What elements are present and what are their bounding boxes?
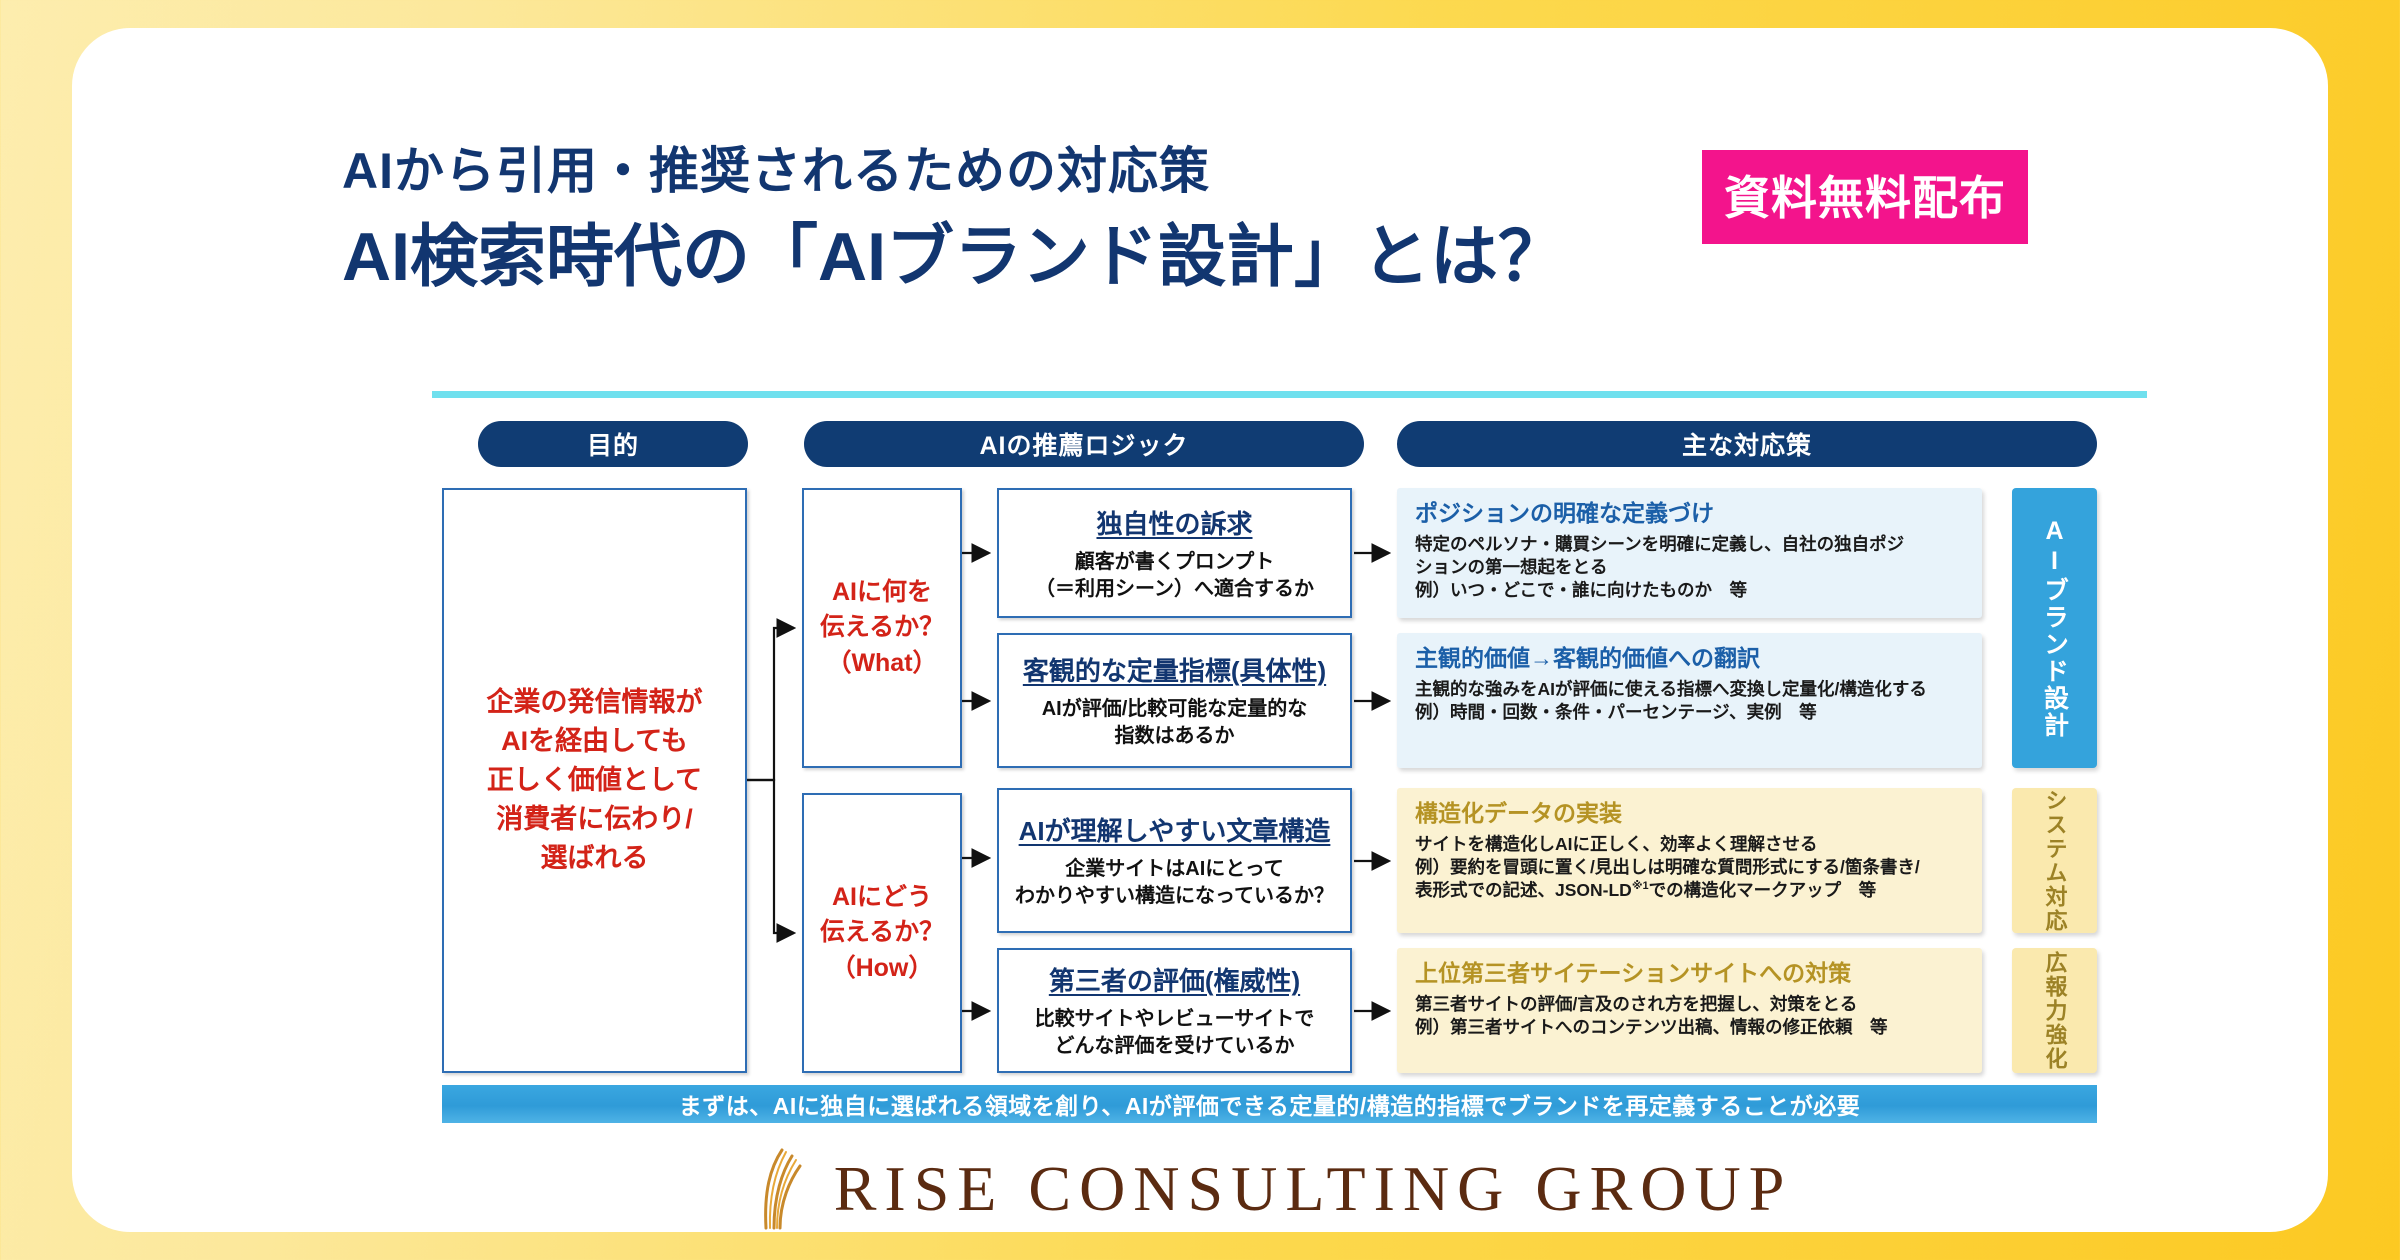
logic-line: 顧客が書くプロンプト [1035, 549, 1314, 576]
question-line: AIに何を [820, 575, 944, 611]
measure-line: 例）第三者サイトへのコンテンツ出稿、情報の修正依頼 等 [1415, 1016, 1966, 1039]
question-box-how: AIにどう 伝えるか？ （How） [802, 793, 962, 1073]
logic-line: 指数はあるか [1042, 723, 1308, 750]
measure-body: 第三者サイトの評価/言及のされ方を把握し、対策をとる 例）第三者サイトへのコンテ… [1415, 993, 1966, 1040]
category-tab-pr: 広報力強化 [2012, 948, 2097, 1073]
logic-line: AIが評価/比較可能な定量的な [1042, 696, 1308, 723]
question-how-text: AIにどう 伝えるか？ （How） [820, 880, 944, 987]
logic-box-title: 第三者の評価(権威性) [1049, 961, 1300, 998]
logic-box-4: 第三者の評価(権威性) 比較サイトやレビューサイトで どんな評価を受けているか [997, 948, 1352, 1073]
measure-line: 例）いつ・どこで・誰に向けたものか 等 [1415, 579, 1966, 602]
measure-line: 主観的な強みをAIが評価に使える指標へ変換し定量化/構造化する [1415, 678, 1966, 701]
measure-line: 第三者サイトの評価/言及のされ方を把握し、対策をとる [1415, 993, 1966, 1016]
logic-box-1: 独自性の訴求 顧客が書くプロンプト （＝利用シーン）へ適合するか [997, 488, 1352, 618]
purpose-line: 消費者に伝わり/ [487, 800, 703, 839]
logic-box-title: 独自性の訴求 [1096, 504, 1252, 541]
measure-line: ションの第一想起をとる [1415, 556, 1966, 579]
measure-title: 構造化データの実装 [1415, 800, 1966, 828]
question-box-what: AIに何を 伝えるか？ （What） [802, 488, 962, 768]
logic-box-2: 客観的な定量指標(具体性) AIが評価/比較可能な定量的な 指数はあるか [997, 633, 1352, 768]
category-tab-system: システム対応 [2012, 788, 2097, 933]
measure-line: 例）要約を冒頭に置く/見出しは明確な質問形式にする/箇条書き/ [1415, 856, 1966, 879]
column-header-purpose: 目的 [478, 421, 748, 467]
question-line: （What） [820, 646, 944, 682]
purpose-line: 企業の発信情報が [487, 683, 703, 722]
column-header-measures: 主な対応策 [1397, 421, 2097, 467]
category-tab-ai-brand: AIブランド設計 [2012, 488, 2097, 768]
question-what-text: AIに何を 伝えるか？ （What） [820, 575, 944, 682]
question-line: 伝えるか？ [820, 915, 944, 951]
question-line: 伝えるか？ [820, 610, 944, 646]
purpose-line: AIを経由しても [487, 722, 703, 761]
logic-line: （＝利用シーン）へ適合するか [1035, 576, 1314, 603]
logic-box-title: AIが理解しやすい文章構造 [1019, 811, 1331, 848]
measure-body: サイトを構造化しAIに正しく、効率よく理解させる 例）要約を冒頭に置く/見出しは… [1415, 833, 1966, 903]
measure-box-1: ポジションの明確な定義づけ 特定のペルソナ・購買シーンを明確に定義し、自社の独自… [1397, 488, 1982, 618]
measure-title: 上位第三者サイテーションサイトへの対策 [1415, 960, 1966, 988]
slide-card: AIから引用・推奨されるための対応策 AI検索時代の「AIブランド設計」とは？ … [72, 28, 2328, 1232]
purpose-line: 選ばれる [487, 839, 703, 878]
logo-wordmark: RISE CONSULTING GROUP [834, 1152, 1793, 1226]
wheat-sheaf-icon [752, 1146, 808, 1232]
column-header-logic: AIの推薦ロジック [804, 421, 1364, 467]
measure-box-3: 構造化データの実装 サイトを構造化しAIに正しく、効率よく理解させる 例）要約を… [1397, 788, 1982, 933]
measure-body: 特定のペルソナ・購買シーンを明確に定義し、自社の独自ポジ ションの第一想起をとる… [1415, 533, 1966, 603]
measure-body: 主観的な強みをAIが評価に使える指標へ変換し定量化/構造化する 例）時間・回数・… [1415, 678, 1966, 725]
logic-box-body: 比較サイトやレビューサイトで どんな評価を受けているか [1035, 1006, 1315, 1059]
logic-box-title: 客観的な定量指標(具体性) [1023, 651, 1326, 688]
logic-line: 比較サイトやレビューサイトで [1035, 1006, 1315, 1033]
purpose-text: 企業の発信情報が AIを経由しても 正しく価値として 消費者に伝わり/ 選ばれる [487, 683, 703, 879]
measure-line: 例）時間・回数・条件・パーセンテージ、実例 等 [1415, 701, 1966, 724]
logic-line: わかりやすい構造になっているか？ [1015, 883, 1334, 910]
purpose-line: 正しく価値として [487, 761, 703, 800]
divider [432, 391, 2147, 398]
question-line: AIにどう [820, 880, 944, 916]
logic-line: 企業サイトはAIにとって [1015, 856, 1334, 883]
logic-box-3: AIが理解しやすい文章構造 企業サイトはAIにとって わかりやすい構造になってい… [997, 788, 1352, 933]
measure-line: 表形式での記述、JSON-LD※1での構造化マークアップ 等 [1415, 879, 1966, 902]
logic-box-body: 顧客が書くプロンプト （＝利用シーン）へ適合するか [1035, 549, 1314, 602]
diagram: 目的 AIの推薦ロジック 主な対応策 企業の発信情報が AIを経由しても 正しく… [432, 413, 2147, 1113]
brand-logo: RISE CONSULTING GROUP [72, 1146, 2400, 1232]
purpose-box: 企業の発信情報が AIを経由しても 正しく価値として 消費者に伝わり/ 選ばれる [442, 488, 747, 1073]
measure-line: サイトを構造化しAIに正しく、効率よく理解させる [1415, 833, 1966, 856]
footer-banner: まずは、AIに独自に選ばれる領域を創り、AIが評価できる定量的/構造的指標でブラ… [442, 1085, 2097, 1123]
measure-line: 特定のペルソナ・購買シーンを明確に定義し、自社の独自ポジ [1415, 533, 1966, 556]
measure-box-4: 上位第三者サイテーションサイトへの対策 第三者サイトの評価/言及のされ方を把握し… [1397, 948, 1982, 1073]
logic-line: どんな評価を受けているか [1035, 1033, 1315, 1060]
measure-title: ポジションの明確な定義づけ [1415, 500, 1966, 528]
measure-box-2: 主観的価値→客観的価値への翻訳 主観的な強みをAIが評価に使える指標へ変換し定量… [1397, 633, 1982, 768]
logic-box-body: AIが評価/比較可能な定量的な 指数はあるか [1042, 696, 1308, 749]
question-line: （How） [820, 951, 944, 987]
measure-title: 主観的価値→客観的価値への翻訳 [1415, 645, 1966, 673]
logic-box-body: 企業サイトはAIにとって わかりやすい構造になっているか？ [1015, 856, 1334, 909]
status-badge: 資料無料配布 [1702, 150, 2028, 244]
